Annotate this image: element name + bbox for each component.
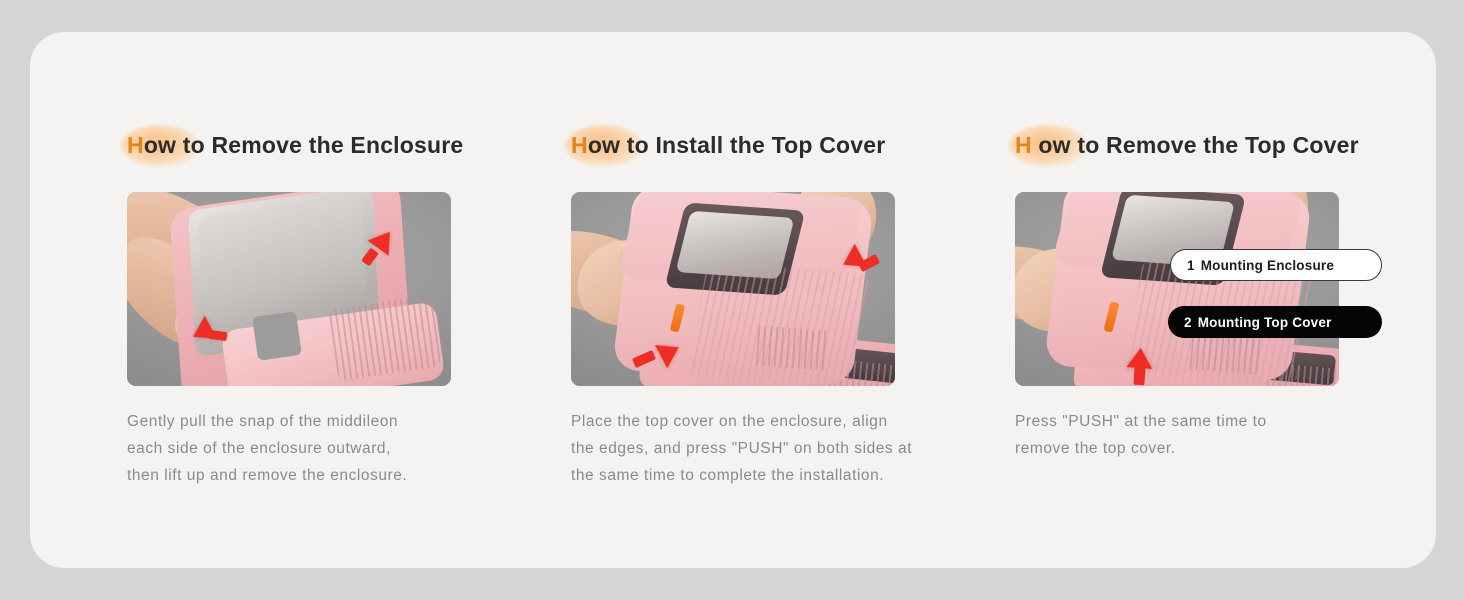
step-heading-2: How to Install the Top Cover: [571, 114, 985, 176]
badge-number: 2: [1184, 315, 1192, 330]
arrow-up-tail: [1133, 367, 1145, 386]
step-photo-3: [1015, 192, 1339, 386]
step-heading-1: How to Remove the Enclosure: [127, 114, 541, 176]
heading-accent-letter: H: [571, 132, 588, 158]
step-photo-2: [571, 192, 895, 386]
heading-rest: ow to Install the Top Cover: [588, 132, 886, 158]
badge-mounting-top-cover[interactable]: 2 Mounting Top Cover: [1168, 306, 1382, 338]
enclosure-vents: [328, 295, 441, 381]
arrow-up-icon: [1126, 347, 1153, 369]
top-cover-vents: [756, 326, 827, 371]
step-caption-3: Press "PUSH" at the same time to remove …: [1015, 408, 1407, 462]
step-photo-1: [127, 192, 451, 386]
instruction-page: How to Remove the Enclosure: [0, 0, 1464, 600]
caption-line: the edges, and press "PUSH" on both side…: [571, 435, 963, 462]
caption-line: Place the top cover on the enclosure, al…: [571, 408, 963, 435]
step-caption-1: Gently pull the snap of the middileon ea…: [127, 408, 519, 489]
step-photo-2-scene: [571, 192, 895, 386]
step-column-remove-enclosure: How to Remove the Enclosure: [97, 114, 541, 534]
step-caption-2: Place the top cover on the enclosure, al…: [571, 408, 963, 489]
step-heading-1-text: How to Remove the Enclosure: [127, 134, 463, 157]
step-column-install-top-cover: How to Install the Top Cover: [541, 114, 985, 534]
caption-line: remove the top cover.: [1015, 435, 1407, 462]
heading-accent-letter: H: [127, 132, 144, 158]
heading-accent-letter: H: [1015, 132, 1032, 158]
top-cover-ribs: [687, 263, 871, 386]
instruction-card: How to Remove the Enclosure: [30, 32, 1436, 568]
badge-number: 1: [1187, 258, 1195, 273]
step-photo-3-scene: [1015, 192, 1339, 386]
caption-line: each side of the enclosure outward,: [127, 435, 519, 462]
badge-mounting-enclosure[interactable]: 1 Mounting Enclosure: [1170, 249, 1382, 281]
heading-rest: ow to Remove the Top Cover: [1032, 132, 1359, 158]
step-photo-1-scene: [127, 192, 451, 386]
step-heading-2-text: How to Install the Top Cover: [571, 134, 885, 157]
enclosure-notch: [252, 311, 302, 361]
caption-line: Press "PUSH" at the same time to: [1015, 408, 1407, 435]
step-heading-3-text: H ow to Remove the Top Cover: [1015, 134, 1359, 157]
caption-line: the same time to complete the installati…: [571, 462, 963, 489]
badge-label: Mounting Top Cover: [1198, 315, 1332, 330]
caption-line: then lift up and remove the enclosure.: [127, 462, 519, 489]
badge-label: Mounting Enclosure: [1201, 258, 1334, 273]
caption-line: Gently pull the snap of the middileon: [127, 408, 519, 435]
heading-rest: ow to Remove the Enclosure: [144, 132, 464, 158]
step-heading-3: H ow to Remove the Top Cover: [1015, 114, 1429, 176]
